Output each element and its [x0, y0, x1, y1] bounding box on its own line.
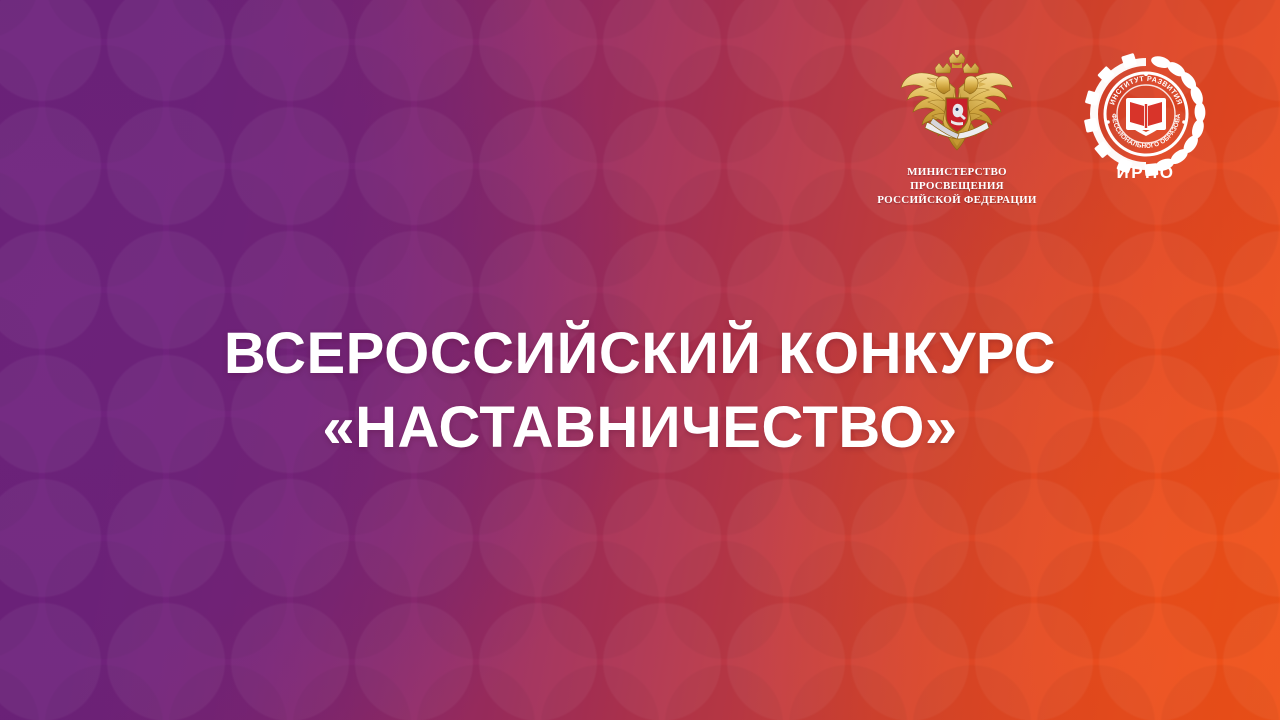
irpo-gear-laurel-book-icon: ИНСТИТУТ РАЗВИТИЯ ПРОФЕССИОНАЛЬНОГО ОБРА… — [1084, 173, 1208, 190]
russian-double-headed-eagle-icon — [897, 50, 1017, 158]
presentation-slide: МИНИСТЕРСТВО ПРОСВЕЩЕНИЯ РОССИЙСКОЙ ФЕДЕ… — [0, 0, 1280, 720]
title-line-1: ВСЕРОССИЙСКИЙ КОНКУРС — [60, 320, 1220, 388]
irpo-logo: ИНСТИТУТ РАЗВИТИЯ ПРОФЕССИОНАЛЬНОГО ОБРА… — [1084, 44, 1208, 186]
logo-bar: МИНИСТЕРСТВО ПРОСВЕЩЕНИЯ РОССИЙСКОЙ ФЕДЕ… — [864, 44, 1208, 207]
ministry-logo: МИНИСТЕРСТВО ПРОСВЕЩЕНИЯ РОССИЙСКОЙ ФЕДЕ… — [864, 44, 1050, 207]
irpo-abbreviation: ИРПО — [1117, 163, 1176, 182]
ministry-caption: МИНИСТЕРСТВО ПРОСВЕЩЕНИЯ РОССИЙСКОЙ ФЕДЕ… — [864, 165, 1050, 207]
title-line-2: «НАСТАВНИЧЕСТВО» — [60, 394, 1220, 462]
page-title: ВСЕРОССИЙСКИЙ КОНКУРС «НАСТАВНИЧЕСТВО» — [0, 320, 1280, 463]
